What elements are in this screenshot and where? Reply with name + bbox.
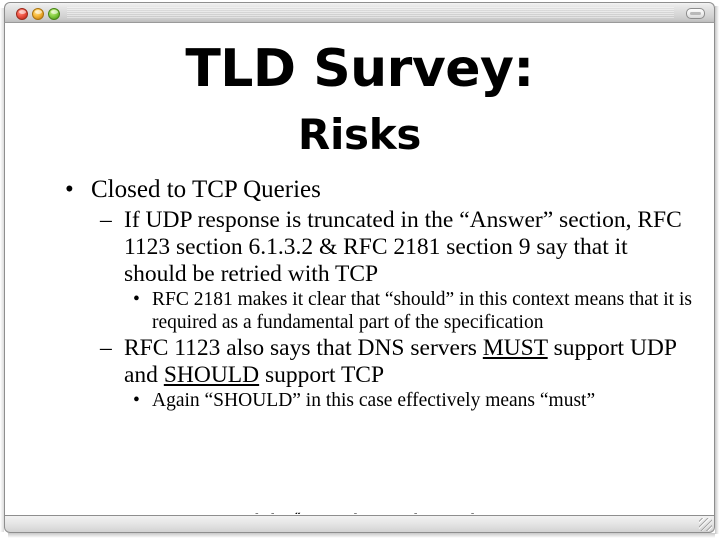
slide-title: TLD Survey: xyxy=(5,41,714,97)
dash-marker-icon: – xyxy=(100,335,112,362)
window-titlebar[interactable] xyxy=(4,2,715,23)
slide-body: • Closed to TCP Queries – If UDP respons… xyxy=(5,175,714,414)
text-run: RFC 1123 also says that DNS servers xyxy=(124,335,483,361)
slide-footer: 2002-11-06 Copyright ˝ 2002 by Brad Know… xyxy=(5,505,714,514)
bullet-marker-icon: • xyxy=(133,390,140,413)
window-bottom-bar xyxy=(4,516,715,533)
close-button-icon[interactable] xyxy=(16,8,28,20)
resize-grip-handle[interactable] xyxy=(699,518,712,531)
toolbar-toggle-button[interactable] xyxy=(686,8,705,19)
bullet-text: Again “SHOULD” in this case effectively … xyxy=(133,390,694,413)
emphasized-keyword: SHOULD xyxy=(164,362,259,388)
footer-page-number: 38 xyxy=(643,511,664,514)
window-content: TLD Survey: Risks • Closed to TCP Querie… xyxy=(4,23,715,516)
bullet-marker-icon: • xyxy=(65,175,74,205)
minimize-button-icon[interactable] xyxy=(32,8,44,20)
bullet-text: RFC 2181 makes it clear that “should” in… xyxy=(133,289,694,334)
bullet-level3: • Again “SHOULD” in this case effectivel… xyxy=(133,390,694,413)
bullet-level3: • RFC 2181 makes it clear that “should” … xyxy=(133,289,694,334)
bullet-text-rich: RFC 1123 also says that DNS servers MUST… xyxy=(100,335,696,389)
footer-date: 2002-11-06 xyxy=(62,511,163,514)
bullet-text: If UDP response is truncated in the “Ans… xyxy=(100,207,696,288)
window-shadow-bottom xyxy=(8,533,715,538)
text-run: support TCP xyxy=(259,362,384,388)
presentation-window: TLD Survey: Risks • Closed to TCP Querie… xyxy=(0,0,719,539)
slide-canvas: TLD Survey: Risks • Closed to TCP Querie… xyxy=(5,23,714,514)
bullet-level1: • Closed to TCP Queries xyxy=(65,175,694,205)
footer-copyright: Copyright ˝ 2002 by Brad Knowles xyxy=(205,511,494,514)
window-shadow-right xyxy=(715,6,719,534)
bullet-marker-icon: • xyxy=(133,289,140,312)
slide-subtitle: Risks xyxy=(5,111,714,159)
bullet-text: Closed to TCP Queries xyxy=(65,175,694,205)
emphasized-keyword: MUST xyxy=(483,335,548,361)
titlebar-texture xyxy=(67,7,674,18)
bullet-level2: – If UDP response is truncated in the “A… xyxy=(100,207,696,288)
zoom-button-icon[interactable] xyxy=(48,8,60,20)
bullet-level2-rich: – RFC 1123 also says that DNS servers MU… xyxy=(100,335,696,389)
dash-marker-icon: – xyxy=(100,207,112,234)
